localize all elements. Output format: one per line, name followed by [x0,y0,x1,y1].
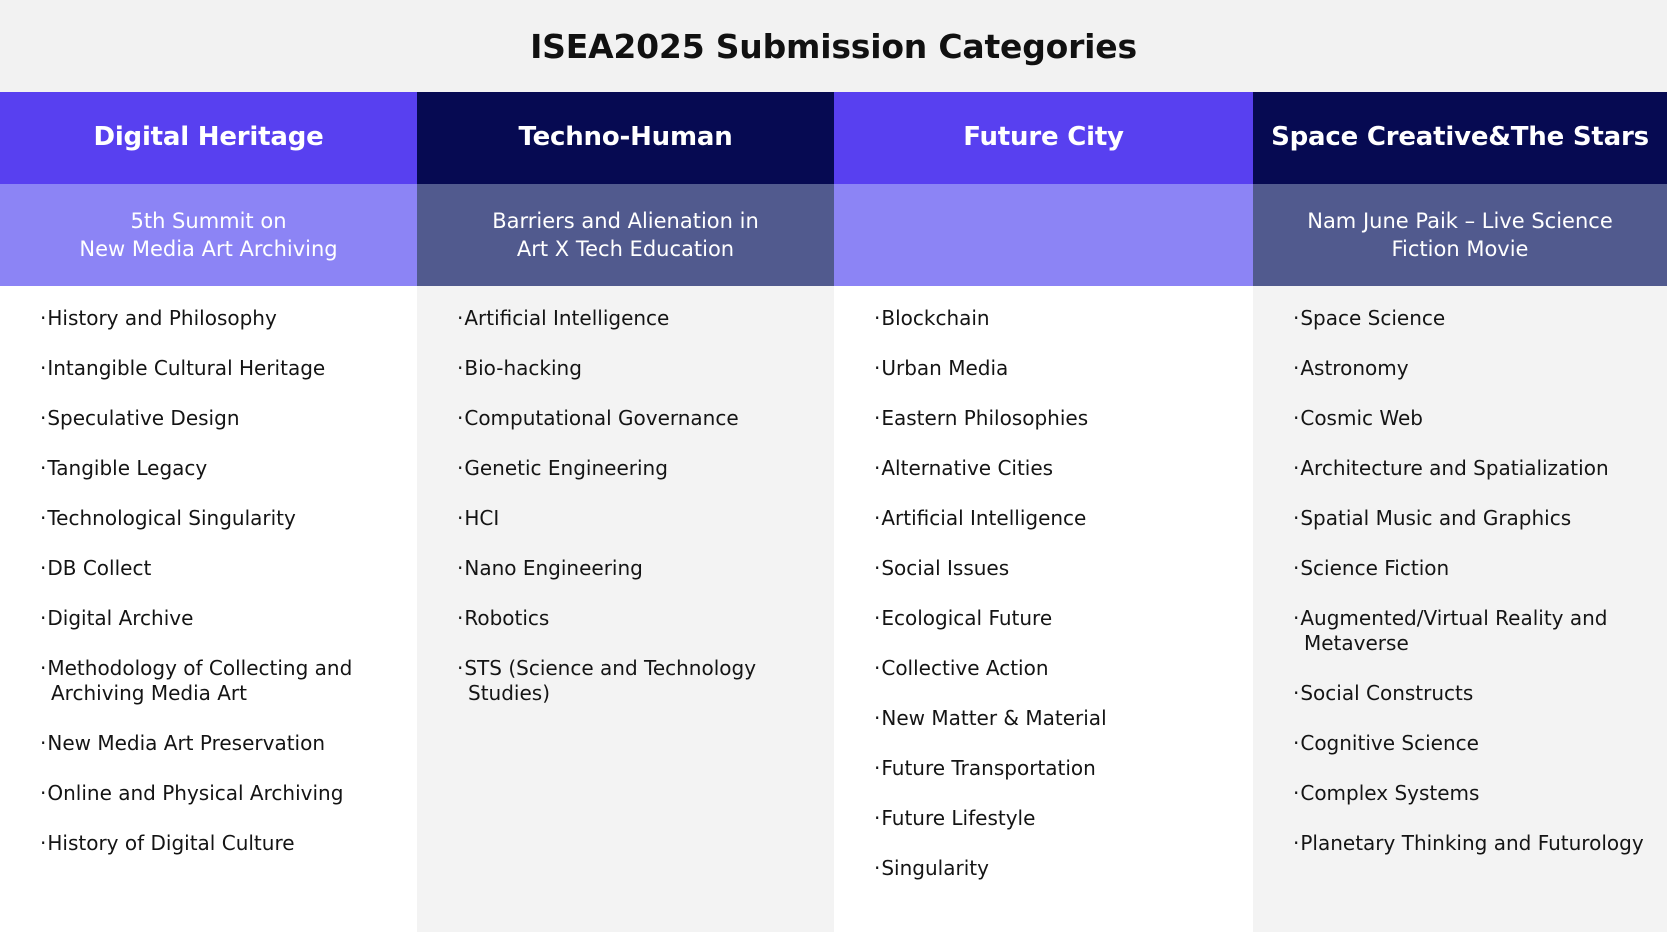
category-header-future-city: Future City [834,92,1253,184]
category-column-future-city: Future City BlockchainUrban MediaEastern… [834,92,1253,932]
category-subtitle-techno-human: Barriers and Alienation in Art X Tech Ed… [417,184,834,286]
topic-list: BlockchainUrban MediaEastern Philosophie… [874,306,1239,881]
topic-item: Alternative Cities [874,456,1239,481]
topic-item: Cosmic Web [1293,406,1653,431]
topic-list: Artificial IntelligenceBio-hackingComput… [457,306,820,706]
topic-item: Intangible Cultural Heritage [40,356,403,381]
categories-table: Digital Heritage 5th Summit on New Media… [0,92,1667,932]
topic-item: Computational Governance [457,406,820,431]
topic-item: Astronomy [1293,356,1653,381]
topic-item: Space Science [1293,306,1653,331]
topic-item: Singularity [874,856,1239,881]
topic-item: Artificial Intelligence [457,306,820,331]
topic-item: Spatial Music and Graphics [1293,506,1653,531]
category-subtitle: Barriers and Alienation in Art X Tech Ed… [492,207,759,264]
page-title: ISEA2025 Submission Categories [530,27,1137,66]
topic-item: Architecture and Spatialization [1293,456,1653,481]
topic-item: History of Digital Culture [40,831,403,856]
topic-item: DB Collect [40,556,403,581]
category-subtitle-space-creative: Nam June Paik – Live Science Fiction Mov… [1253,184,1667,286]
topic-item: Digital Archive [40,606,403,631]
topic-list: Space ScienceAstronomyCosmic WebArchitec… [1293,306,1653,856]
category-title: Future City [963,123,1124,153]
topic-item: Eastern Philosophies [874,406,1239,431]
category-column-techno-human: Techno-Human Barriers and Alienation in … [417,92,834,932]
topic-item: Complex Systems [1293,781,1653,806]
category-header-techno-human: Techno-Human [417,92,834,184]
topic-item: Speculative Design [40,406,403,431]
topic-item: Collective Action [874,656,1239,681]
topic-item: Social Issues [874,556,1239,581]
topic-item: Genetic Engineering [457,456,820,481]
topic-item: Bio-hacking [457,356,820,381]
topic-item: History and Philosophy [40,306,403,331]
category-body-digital-heritage: History and PhilosophyIntangible Cultura… [0,286,417,932]
title-bar: ISEA2025 Submission Categories [0,0,1667,92]
topic-item: Future Transportation [874,756,1239,781]
topic-item: Tangible Legacy [40,456,403,481]
category-title: Digital Heritage [93,123,323,153]
topic-item: Blockchain [874,306,1239,331]
category-column-space-creative: Space Creative&The Stars Nam June Paik –… [1253,92,1667,932]
topic-item: Methodology of Collecting and Archiving … [40,656,403,706]
topic-item: Robotics [457,606,820,631]
topic-item: Nano Engineering [457,556,820,581]
topic-item: New Media Art Preservation [40,731,403,756]
category-body-techno-human: Artificial IntelligenceBio-hackingComput… [417,286,834,932]
topic-item: Online and Physical Archiving [40,781,403,806]
topic-item: HCI [457,506,820,531]
category-column-digital-heritage: Digital Heritage 5th Summit on New Media… [0,92,417,932]
category-body-future-city: BlockchainUrban MediaEastern Philosophie… [834,286,1253,932]
category-subtitle-digital-heritage: 5th Summit on New Media Art Archiving [0,184,417,286]
topic-item: Planetary Thinking and Futurology [1293,831,1653,856]
topic-item: Cognitive Science [1293,731,1653,756]
topic-item: Future Lifestyle [874,806,1239,831]
topic-item: Social Constructs [1293,681,1653,706]
topic-item: Urban Media [874,356,1239,381]
category-header-space-creative: Space Creative&The Stars [1253,92,1667,184]
topic-item: Artificial Intelligence [874,506,1239,531]
category-subtitle: Nam June Paik – Live Science Fiction Mov… [1307,207,1613,264]
category-subtitle: 5th Summit on New Media Art Archiving [79,207,337,264]
category-subtitle-future-city [834,184,1253,286]
topic-item: Augmented/Virtual Reality and Metaverse [1293,606,1653,656]
category-body-space-creative: Space ScienceAstronomyCosmic WebArchitec… [1253,286,1667,932]
topic-list: History and PhilosophyIntangible Cultura… [40,306,403,856]
topic-item: Ecological Future [874,606,1239,631]
topic-item: STS (Science and Technology Studies) [457,656,820,706]
topic-item: Science Fiction [1293,556,1653,581]
topic-item: Technological Singularity [40,506,403,531]
category-header-digital-heritage: Digital Heritage [0,92,417,184]
submission-categories-page: ISEA2025 Submission Categories Digital H… [0,0,1667,932]
topic-item: New Matter & Material [874,706,1239,731]
category-title: Space Creative&The Stars [1271,123,1649,153]
category-title: Techno-Human [518,123,732,153]
